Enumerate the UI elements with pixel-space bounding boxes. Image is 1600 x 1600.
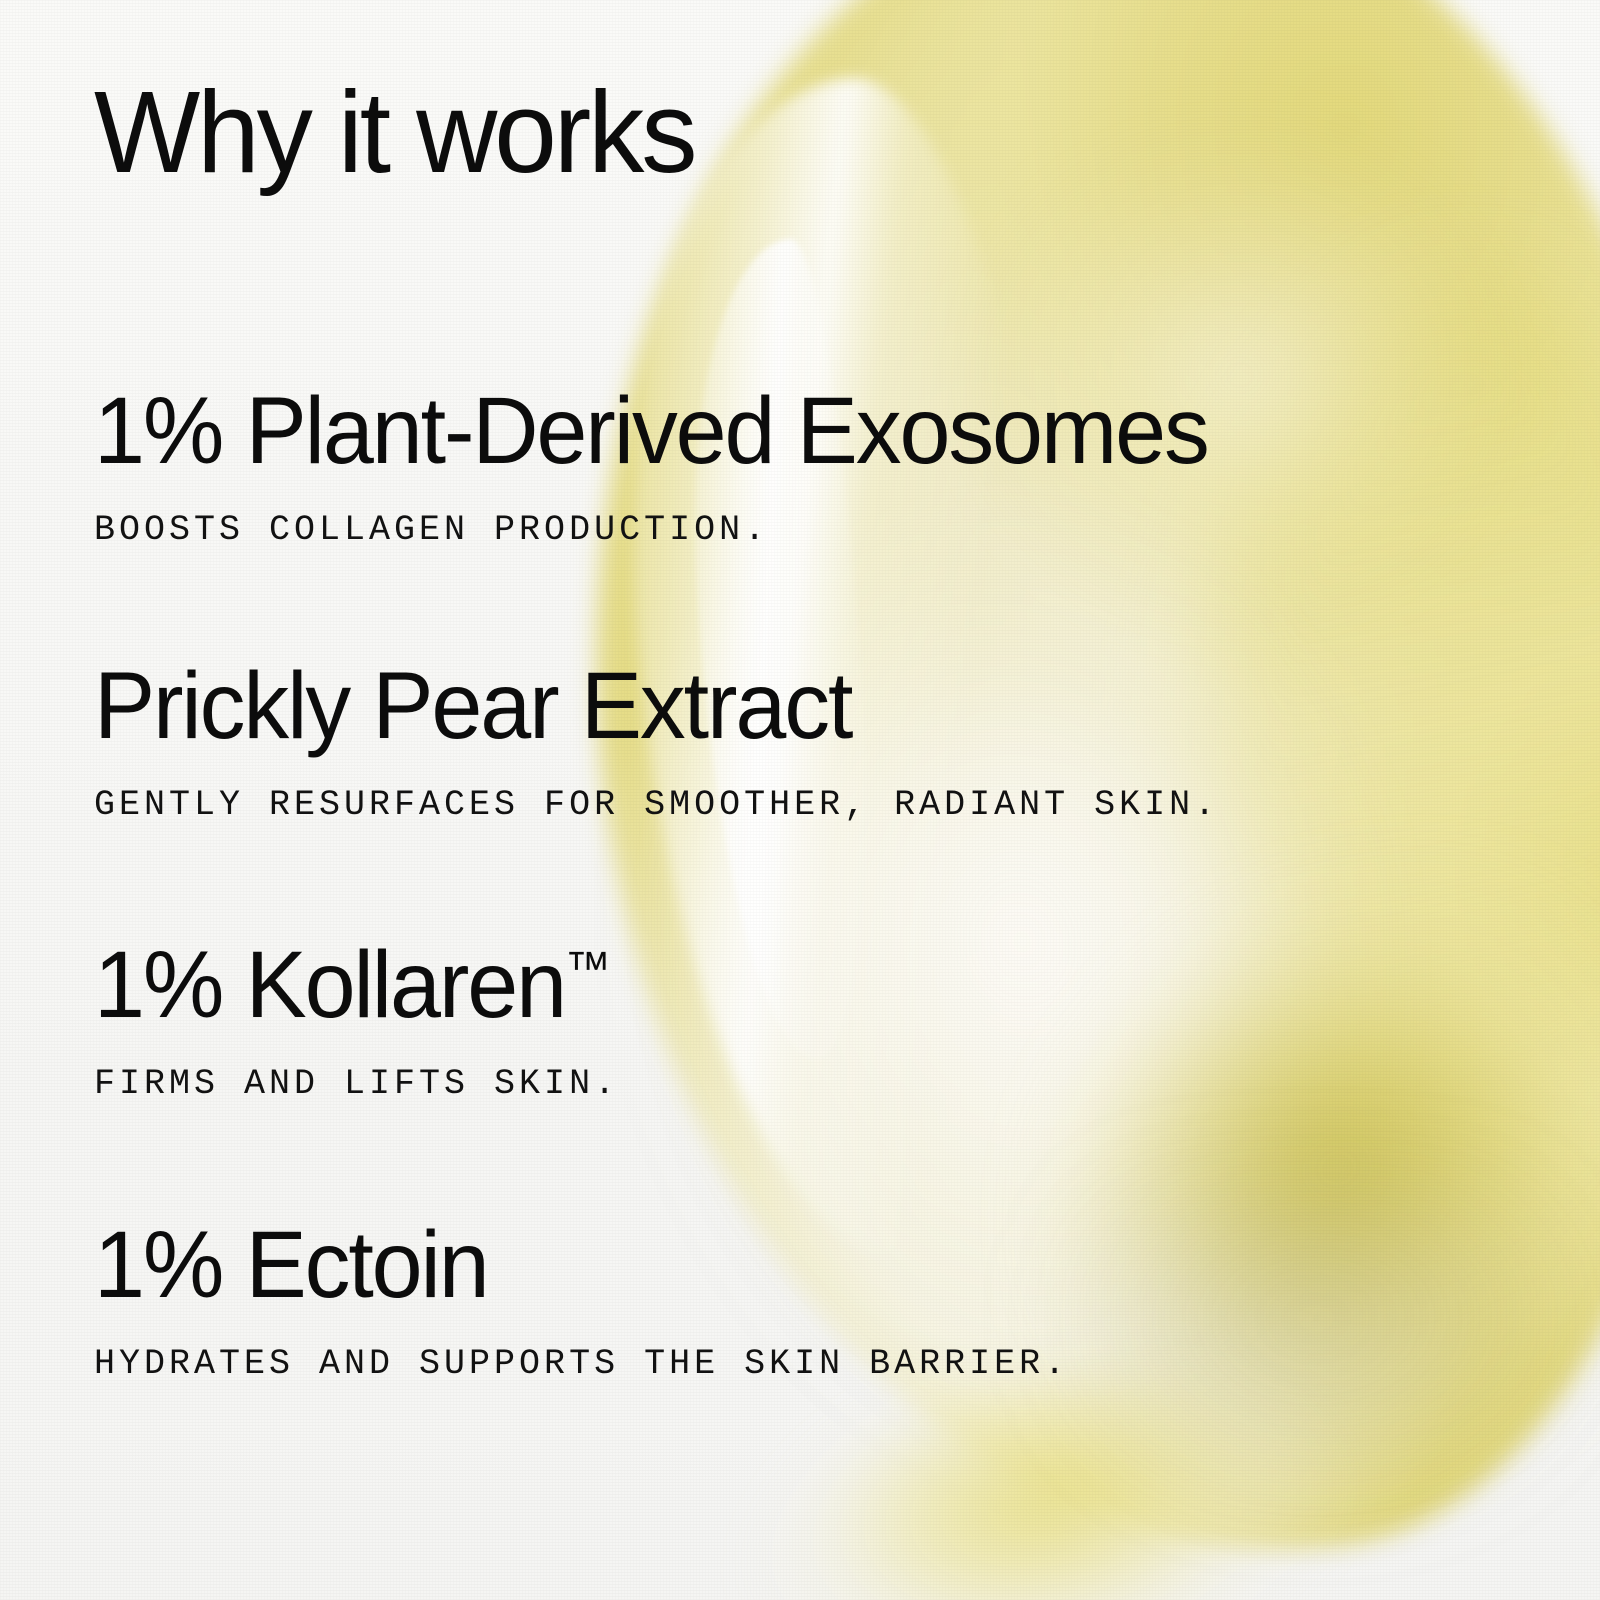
ingredient-description: FIRMS AND LIFTS SKIN. xyxy=(94,1033,629,1102)
ingredient-block-kollaren: 1% Kollaren™ FIRMS AND LIFTS SKIN. xyxy=(94,938,629,1102)
content-layer: Why it works 1% Plant-Derived Exosomes B… xyxy=(0,0,1600,1600)
ingredient-name: 1% Kollaren™ xyxy=(94,938,610,1033)
ingredient-name: Prickly Pear Extract xyxy=(94,659,1180,754)
ingredient-description: GENTLY RESURFACES FOR SMOOTHER, RADIANT … xyxy=(94,754,1219,823)
marketing-card: Why it works 1% Plant-Derived Exosomes B… xyxy=(0,0,1600,1600)
ingredient-name: 1% Ectoin xyxy=(94,1218,1035,1313)
page-title: Why it works xyxy=(94,74,694,190)
ingredient-description: HYDRATES AND SUPPORTS THE SKIN BARRIER. xyxy=(94,1313,1069,1382)
ingredient-name-text: 1% Kollaren xyxy=(94,932,565,1038)
ingredient-block-ectoin: 1% Ectoin HYDRATES AND SUPPORTS THE SKIN… xyxy=(94,1218,1069,1382)
ingredient-description: BOOSTS COLLAGEN PRODUCTION. xyxy=(94,479,1248,548)
ingredient-block-prickly-pear: Prickly Pear Extract GENTLY RESURFACES F… xyxy=(94,659,1219,823)
ingredient-block-exosomes: 1% Plant-Derived Exosomes BOOSTS COLLAGE… xyxy=(94,384,1248,548)
ingredient-name-text: 1% Plant-Derived Exosomes xyxy=(94,378,1208,484)
ingredient-name-text: 1% Ectoin xyxy=(94,1212,488,1318)
trademark-symbol: ™ xyxy=(565,942,610,995)
ingredient-name: 1% Plant-Derived Exosomes xyxy=(94,384,1208,479)
ingredient-name-text: Prickly Pear Extract xyxy=(94,653,851,759)
